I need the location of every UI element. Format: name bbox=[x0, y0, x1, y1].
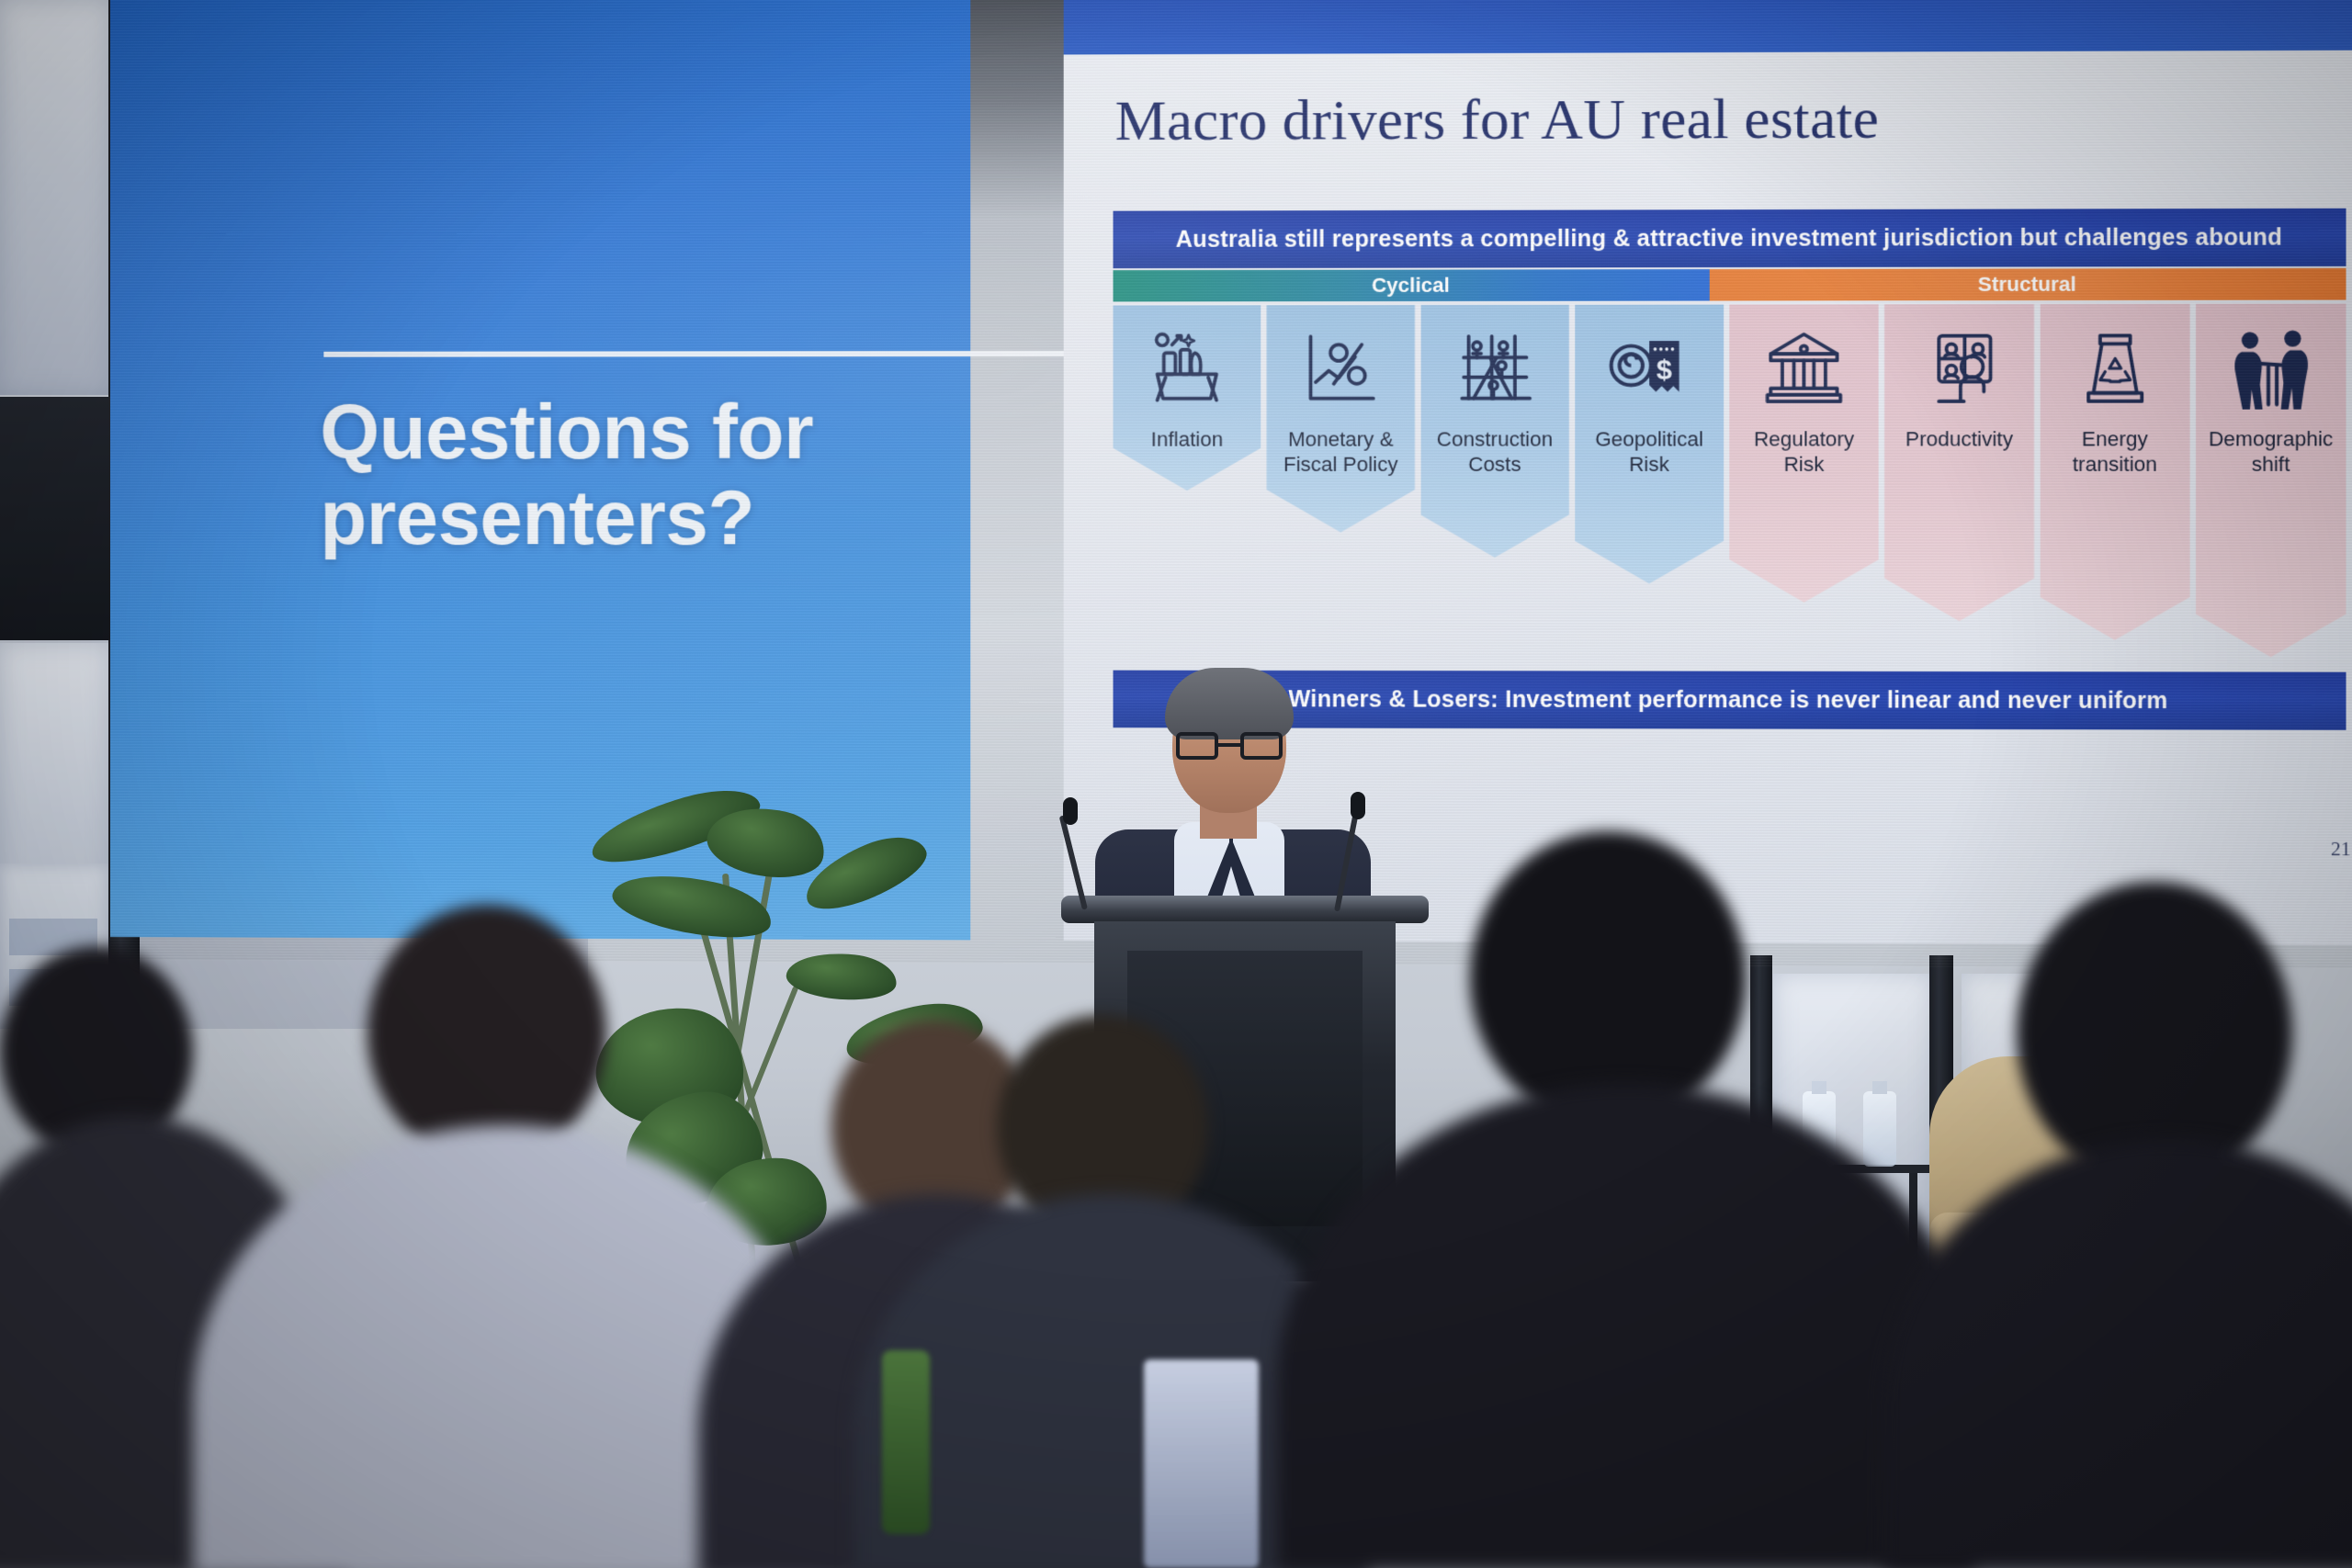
slide-top-bar bbox=[1064, 0, 2352, 54]
driver-arrow-label: Monetary &Fiscal Policy bbox=[1270, 427, 1412, 477]
driver-arrow: Monetary &Fiscal Policy bbox=[1267, 305, 1415, 676]
foreground-bottle bbox=[882, 1350, 930, 1534]
driver-arrow-label: Geopolitical Risk bbox=[1577, 427, 1721, 477]
category-label-structural: Structural bbox=[1710, 268, 2346, 301]
government-bank-icon bbox=[1762, 320, 1845, 419]
microphone-head bbox=[1351, 792, 1365, 819]
presenter-hair bbox=[1165, 668, 1294, 739]
percent-chart-icon bbox=[1299, 320, 1382, 418]
driver-arrow-label: Inflation bbox=[1116, 427, 1259, 452]
video-meeting-icon bbox=[1917, 319, 2001, 418]
shopping-basket-icon bbox=[1146, 320, 1228, 418]
window-pane-upper-left bbox=[0, 0, 110, 395]
water-bottle-cap bbox=[1872, 1081, 1887, 1094]
plant-leaf bbox=[785, 948, 899, 1005]
driver-arrow-label: Productivity bbox=[1887, 427, 2030, 452]
lectern-top bbox=[1061, 896, 1429, 923]
banner-top: Australia still represents a compelling … bbox=[1114, 209, 2346, 268]
svg-text:$: $ bbox=[1657, 355, 1672, 385]
elderly-people-icon bbox=[2229, 319, 2312, 418]
plant-leaf bbox=[608, 862, 777, 949]
driver-arrow: Regulatory Risk bbox=[1729, 304, 1879, 677]
category-strip: Cyclical Structural bbox=[1114, 268, 2346, 302]
driver-arrow: Inflation bbox=[1114, 305, 1261, 676]
driver-arrow-label: ConstructionCosts bbox=[1423, 427, 1566, 477]
driver-arrow: Energytransition bbox=[2040, 304, 2189, 678]
driver-arrow-label: Demographic shift bbox=[2199, 427, 2343, 478]
presentation-photo-scene: Questions for presenters? Macro drivers … bbox=[0, 0, 2352, 1568]
category-label-cyclical: Cyclical bbox=[1114, 269, 1710, 301]
driver-arrow: Demographic shift bbox=[2196, 304, 2346, 678]
scaffolding-icon bbox=[1453, 320, 1536, 418]
page-title: Macro drivers for AU real estate bbox=[1115, 86, 1880, 154]
recycling-plant-icon bbox=[2073, 319, 2156, 418]
page-number: 21 bbox=[2331, 838, 2351, 862]
driver-arrow-label: Regulatory Risk bbox=[1733, 427, 1876, 477]
questions-slide-title: Questions for presenters? bbox=[320, 389, 968, 561]
driver-arrow: ConstructionCosts bbox=[1420, 305, 1569, 677]
driver-arrow: $Geopolitical Risk bbox=[1575, 305, 1724, 677]
driver-arrow: Productivity bbox=[1884, 304, 2034, 677]
driver-arrow-label: Energytransition bbox=[2042, 427, 2187, 478]
microphone-head bbox=[1063, 797, 1078, 825]
audience-head bbox=[1470, 831, 1746, 1125]
driver-arrow-row: InflationMonetary &Fiscal PolicyConstruc… bbox=[1114, 304, 2346, 678]
audience-head bbox=[367, 905, 606, 1162]
water-bottle bbox=[1863, 1091, 1896, 1167]
target-dollar-icon: $ bbox=[1608, 320, 1690, 418]
eyeglasses-icon bbox=[1176, 732, 1283, 760]
water-bottle-cap bbox=[1812, 1081, 1826, 1094]
foreground-tablet bbox=[1144, 1359, 1259, 1568]
